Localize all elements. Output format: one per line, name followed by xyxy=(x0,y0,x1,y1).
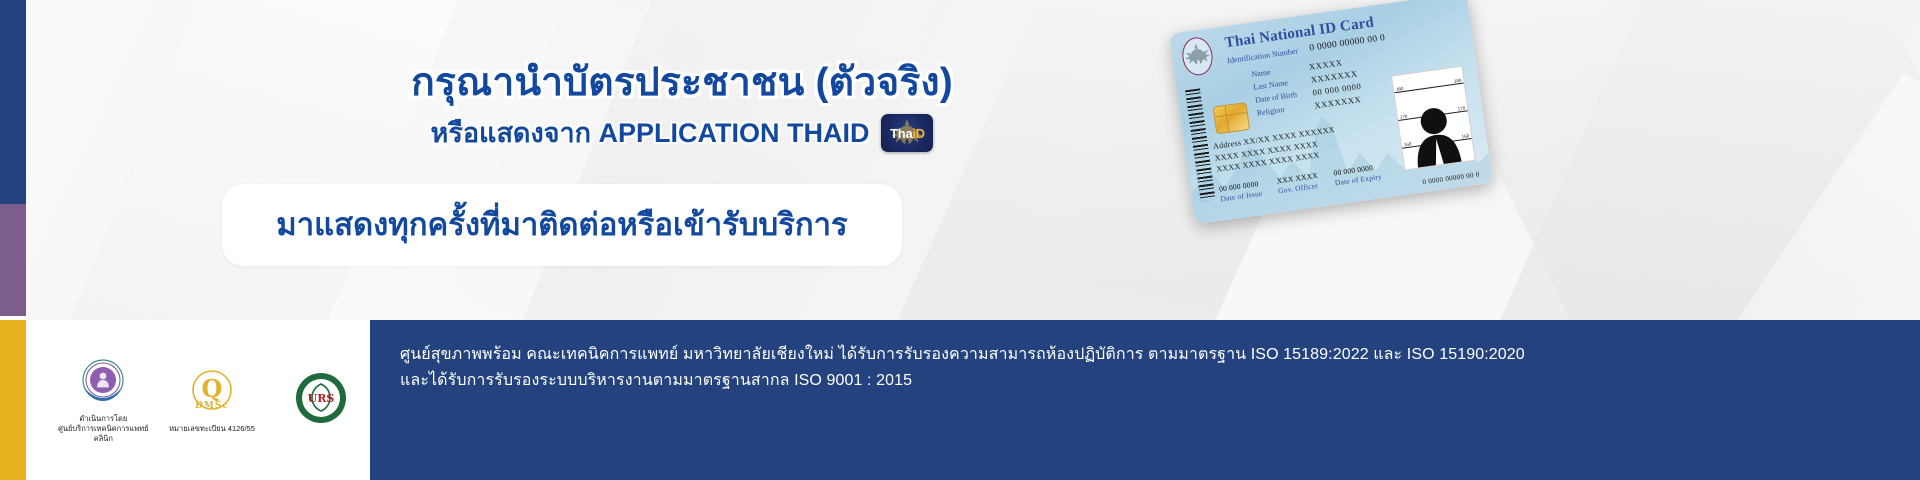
cta-pill: มาแสดงทุกครั้งที่มาติดต่อหรือเข้ารับบริก… xyxy=(222,184,902,266)
card-photo-frame: 180 180 170 170 160 160 xyxy=(1391,66,1476,171)
headline-block: กรุณานำบัตรประชาชน (ตัวจริง) หรือแสดงจาก… xyxy=(222,60,1142,152)
footer-logo-urs: URS xyxy=(271,371,370,429)
headline-primary: กรุณานำบัตรประชาชน (ตัวจริง) xyxy=(222,60,1142,106)
card-scale-tick: 180 xyxy=(1454,79,1462,85)
person-silhouette-icon xyxy=(1405,98,1465,169)
accent-bar-gold xyxy=(0,320,26,480)
banner-root: กรุณานำบัตรประชาชน (ตัวจริง) หรือแสดงจาก… xyxy=(0,0,1920,480)
footer-logo-caption: ดำเนินการโดย ศูนย์บริการเทคนิคการแพทย์คล… xyxy=(54,414,153,444)
thaid-badge-label: ThaiD xyxy=(890,127,925,140)
footer-text-panel: ศูนย์สุขภาพพร้อม คณะเทคนิคการแพทย์ มหาวิ… xyxy=(370,320,1920,480)
cta-text: มาแสดงทุกครั้งที่มาติดต่อหรือเข้ารับบริก… xyxy=(276,207,847,243)
footer-logo-mt-clinic: ดำเนินการโดย ศูนย์บริการเทคนิคการแพทย์คล… xyxy=(54,356,153,444)
footer-logo-group: ดำเนินการโดย ศูนย์บริการเทคนิคการแพทย์คล… xyxy=(26,320,370,480)
dmsc-q-seal-icon: Q DMSc xyxy=(185,366,239,420)
footer: ดำเนินการโดย ศูนย์บริการเทคนิคการแพทย์คล… xyxy=(0,320,1920,480)
dmsc-quality-logo-icon: Q DMSc xyxy=(185,366,239,420)
svg-text:Q: Q xyxy=(202,374,223,403)
garuda-crest-icon xyxy=(1183,40,1211,73)
mt-clinic-seal-icon xyxy=(76,356,130,410)
footer-logo-caption: หมายเลขทะเบียน 4126/55 xyxy=(169,424,255,434)
headline-secondary: หรือแสดงจาก APPLICATION THAID xyxy=(431,117,870,149)
background-facet xyxy=(1,0,578,320)
urs-seal-icon: URS xyxy=(294,371,348,425)
left-accent-bars xyxy=(0,0,26,480)
card-field-value: XXXXX xyxy=(1308,57,1343,72)
card-chip-icon xyxy=(1213,102,1251,134)
footer-text-line-1: ศูนย์สุขภาพพร้อม คณะเทคนิคการแพทย์ มหาวิ… xyxy=(400,342,1920,368)
background-facet xyxy=(1557,72,1920,320)
background-stage xyxy=(0,0,1920,320)
id-card-illustration: Thai National ID Card Identification Num… xyxy=(1169,0,1501,282)
accent-bar-navy xyxy=(0,0,26,204)
accent-bar-purple xyxy=(0,204,26,316)
urs-iso9001-logo-icon: URS xyxy=(294,371,348,425)
card-garuda-emblem-icon xyxy=(1180,35,1215,77)
card-scale-tick: 180 xyxy=(1396,87,1404,93)
mt-clinic-logo-icon xyxy=(76,356,130,410)
footer-logo-dmsc: Q DMSc หมายเลขทะเบียน 4126/55 xyxy=(163,366,262,434)
background-facet xyxy=(233,0,707,320)
footer-text-line-2: และได้รับการรับรองระบบบริหารงานตามมาตรฐา… xyxy=(400,368,1920,394)
thaid-app-icon[interactable]: ThaiD xyxy=(881,114,933,152)
headline-secondary-row: หรือแสดงจาก APPLICATION THAID ThaiD xyxy=(222,114,1142,152)
thai-national-id-card: Thai National ID Card Identification Num… xyxy=(1169,0,1493,224)
svg-text:URS: URS xyxy=(307,392,334,405)
svg-text:DMSc: DMSc xyxy=(195,401,229,411)
